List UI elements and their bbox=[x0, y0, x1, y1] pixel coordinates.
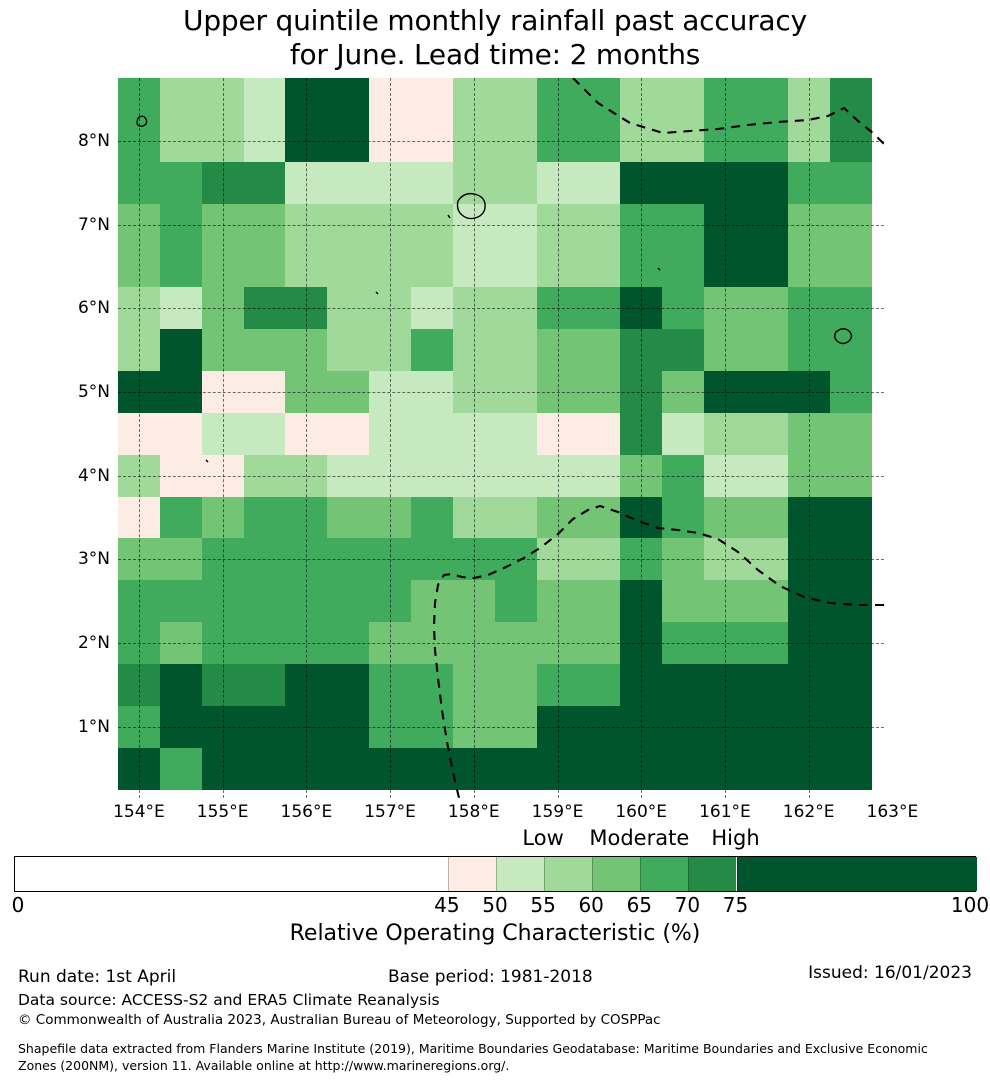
colorbar-tick-label: 75 bbox=[696, 893, 776, 917]
heatmap-cell bbox=[788, 287, 830, 329]
heatmap-cell bbox=[244, 497, 286, 539]
x-axis-tick-label: 161°E bbox=[680, 802, 770, 822]
heatmap-cell bbox=[327, 664, 369, 706]
heatmap-cell bbox=[788, 580, 830, 622]
heatmap-cell bbox=[453, 706, 495, 748]
heatmap-cell bbox=[788, 748, 830, 790]
heatmap-cell bbox=[495, 455, 537, 497]
heatmap-cell bbox=[202, 664, 244, 706]
heatmap-cell bbox=[830, 748, 872, 790]
heatmap-cell bbox=[369, 245, 411, 287]
heatmap-cell bbox=[202, 371, 244, 413]
heatmap-cell bbox=[704, 622, 746, 664]
heatmap-cell bbox=[411, 329, 453, 371]
heatmap-cell bbox=[578, 329, 620, 371]
chart-title-line2: for June. Lead time: 2 months bbox=[0, 38, 990, 72]
heatmap-cell bbox=[746, 329, 788, 371]
rainfall-accuracy-figure: Upper quintile monthly rainfall past acc… bbox=[0, 0, 990, 1080]
heatmap-cell bbox=[244, 706, 286, 748]
heatmap-cell bbox=[830, 538, 872, 580]
colorbar-segment bbox=[737, 857, 978, 891]
heatmap-cell bbox=[369, 162, 411, 204]
heatmap-cell bbox=[662, 748, 704, 790]
heatmap-cell bbox=[369, 748, 411, 790]
heatmap-cell bbox=[244, 162, 286, 204]
heatmap-cell bbox=[537, 204, 579, 246]
heatmap-cell bbox=[327, 580, 369, 622]
heatmap-cell bbox=[537, 162, 579, 204]
heatmap-cell bbox=[578, 497, 620, 539]
heatmap-cell bbox=[369, 706, 411, 748]
heatmap-cell bbox=[160, 204, 202, 246]
heatmap-cell bbox=[453, 748, 495, 790]
heatmap-cell bbox=[704, 538, 746, 580]
heatmap-cell bbox=[830, 329, 872, 371]
chart-title-line1: Upper quintile monthly rainfall past acc… bbox=[0, 4, 990, 38]
heatmap-cell bbox=[704, 664, 746, 706]
heatmap-cell bbox=[662, 329, 704, 371]
y-axis-ticks: 1°N2°N3°N4°N5°N6°N7°N8°N bbox=[40, 78, 110, 798]
heatmap-cell bbox=[369, 538, 411, 580]
heatmap-cell bbox=[202, 287, 244, 329]
heatmap-cell bbox=[746, 497, 788, 539]
heatmap-cell bbox=[202, 580, 244, 622]
colorbar-segment bbox=[544, 857, 592, 891]
heatmap-cell bbox=[788, 497, 830, 539]
heatmap-cell bbox=[746, 538, 788, 580]
heatmap-cell bbox=[453, 78, 495, 120]
heatmap-grid bbox=[118, 78, 884, 798]
heatmap-cell bbox=[453, 664, 495, 706]
heatmap-cell bbox=[160, 706, 202, 748]
heatmap-cell bbox=[327, 162, 369, 204]
heatmap-cell bbox=[244, 371, 286, 413]
heatmap-cell bbox=[327, 538, 369, 580]
heatmap-cell bbox=[537, 580, 579, 622]
x-axis-tick-label: 162°E bbox=[764, 802, 854, 822]
heatmap-cell bbox=[495, 162, 537, 204]
heatmap-cell bbox=[537, 245, 579, 287]
heatmap-cell bbox=[788, 622, 830, 664]
heatmap-cell bbox=[411, 455, 453, 497]
heatmap-cell bbox=[285, 78, 327, 120]
heatmap-cell bbox=[285, 287, 327, 329]
heatmap-cell bbox=[285, 622, 327, 664]
heatmap-cell bbox=[537, 120, 579, 162]
heatmap-cell bbox=[537, 455, 579, 497]
heatmap-cell bbox=[537, 497, 579, 539]
heatmap-cell bbox=[746, 120, 788, 162]
heatmap-cell bbox=[620, 497, 662, 539]
heatmap-cell bbox=[578, 245, 620, 287]
heatmap-cell bbox=[244, 664, 286, 706]
heatmap-cell bbox=[746, 706, 788, 748]
heatmap-cell bbox=[620, 162, 662, 204]
heatmap-cell bbox=[830, 287, 872, 329]
heatmap-cell bbox=[411, 580, 453, 622]
heatmap-cell bbox=[118, 538, 160, 580]
y-axis-tick-label: 4°N bbox=[46, 468, 110, 485]
heatmap-cell bbox=[495, 287, 537, 329]
colorbar bbox=[14, 856, 976, 892]
heatmap-cell bbox=[620, 538, 662, 580]
y-axis-tick-label: 8°N bbox=[46, 133, 110, 150]
heatmap-cell bbox=[202, 78, 244, 120]
heatmap-cell bbox=[788, 120, 830, 162]
heatmap-cell bbox=[788, 664, 830, 706]
heatmap-cell bbox=[118, 748, 160, 790]
heatmap-cell bbox=[244, 78, 286, 120]
heatmap-cell bbox=[578, 664, 620, 706]
heatmap-cell bbox=[788, 538, 830, 580]
heatmap-cell bbox=[118, 580, 160, 622]
heatmap-cell bbox=[202, 204, 244, 246]
heatmap-cell bbox=[746, 413, 788, 455]
heatmap-cell bbox=[578, 78, 620, 120]
heatmap-cell bbox=[495, 664, 537, 706]
heatmap-cell bbox=[285, 497, 327, 539]
heatmap-cell bbox=[704, 706, 746, 748]
heatmap-cell bbox=[327, 120, 369, 162]
heatmap-cell bbox=[411, 538, 453, 580]
heatmap-cell bbox=[830, 245, 872, 287]
map-plot-area bbox=[118, 78, 884, 798]
heatmap-cell bbox=[495, 78, 537, 120]
y-axis-tick-label: 1°N bbox=[46, 719, 110, 736]
heatmap-cell bbox=[411, 204, 453, 246]
heatmap-cell bbox=[788, 245, 830, 287]
heatmap-cell bbox=[662, 78, 704, 120]
heatmap-cell bbox=[620, 413, 662, 455]
footer-meta-row: Run date: 1st April Base period: 1981-20… bbox=[0, 966, 990, 990]
heatmap-cell bbox=[746, 371, 788, 413]
heatmap-cell bbox=[495, 497, 537, 539]
heatmap-cell bbox=[453, 497, 495, 539]
heatmap-cell bbox=[160, 287, 202, 329]
heatmap-cell bbox=[202, 329, 244, 371]
heatmap-cell bbox=[202, 538, 244, 580]
heatmap-cell bbox=[453, 204, 495, 246]
heatmap-cell bbox=[830, 204, 872, 246]
shapefile-attribution-text: Shapefile data extracted from Flanders M… bbox=[18, 1040, 968, 1074]
heatmap-cell bbox=[202, 413, 244, 455]
heatmap-cell bbox=[704, 120, 746, 162]
heatmap-cell bbox=[411, 622, 453, 664]
heatmap-cell bbox=[369, 78, 411, 120]
heatmap-cell bbox=[662, 371, 704, 413]
heatmap-cell bbox=[662, 287, 704, 329]
heatmap-cell bbox=[202, 748, 244, 790]
heatmap-cell bbox=[244, 580, 286, 622]
heatmap-cell bbox=[578, 748, 620, 790]
heatmap-cell bbox=[285, 455, 327, 497]
heatmap-cell bbox=[453, 120, 495, 162]
heatmap-cell bbox=[244, 538, 286, 580]
heatmap-cell bbox=[537, 538, 579, 580]
x-axis-tick-label: 157°E bbox=[345, 802, 435, 822]
heatmap-cell bbox=[788, 204, 830, 246]
heatmap-cell bbox=[495, 748, 537, 790]
heatmap-cell bbox=[118, 497, 160, 539]
heatmap-cell bbox=[578, 622, 620, 664]
heatmap-cell bbox=[662, 580, 704, 622]
colorbar-segment bbox=[15, 857, 448, 891]
heatmap-cell bbox=[369, 664, 411, 706]
heatmap-cell bbox=[620, 706, 662, 748]
heatmap-cell bbox=[202, 245, 244, 287]
heatmap-cell bbox=[746, 580, 788, 622]
heatmap-cell bbox=[537, 748, 579, 790]
heatmap-cell bbox=[662, 538, 704, 580]
heatmap-cell bbox=[620, 455, 662, 497]
heatmap-cell bbox=[369, 371, 411, 413]
figure-footer: Run date: 1st April Base period: 1981-20… bbox=[0, 966, 990, 1080]
y-axis-tick-label: 7°N bbox=[46, 217, 110, 234]
chart-title: Upper quintile monthly rainfall past acc… bbox=[0, 4, 990, 72]
heatmap-cell bbox=[160, 455, 202, 497]
heatmap-cell bbox=[662, 245, 704, 287]
heatmap-cell bbox=[411, 706, 453, 748]
heatmap-cell bbox=[411, 371, 453, 413]
heatmap-cell bbox=[118, 204, 160, 246]
heatmap-cell bbox=[788, 371, 830, 413]
heatmap-cell bbox=[620, 622, 662, 664]
heatmap-cell bbox=[662, 413, 704, 455]
colorbar-category-labels: LowModerateHigh bbox=[0, 826, 990, 852]
colorbar-category-label: High bbox=[636, 826, 836, 850]
heatmap-cell bbox=[160, 497, 202, 539]
heatmap-cell bbox=[704, 162, 746, 204]
heatmap-cell bbox=[244, 748, 286, 790]
heatmap-cell bbox=[411, 287, 453, 329]
heatmap-cell bbox=[495, 371, 537, 413]
heatmap-cell bbox=[118, 455, 160, 497]
heatmap-cell bbox=[244, 413, 286, 455]
heatmap-cell bbox=[830, 78, 872, 120]
heatmap-cell bbox=[285, 162, 327, 204]
heatmap-cell bbox=[537, 329, 579, 371]
heatmap-cell bbox=[160, 413, 202, 455]
heatmap-cell bbox=[578, 162, 620, 204]
heatmap-cell bbox=[746, 664, 788, 706]
heatmap-cell bbox=[160, 78, 202, 120]
heatmap-cell bbox=[118, 371, 160, 413]
heatmap-cell bbox=[369, 204, 411, 246]
heatmap-cell bbox=[244, 245, 286, 287]
heatmap-cell bbox=[537, 706, 579, 748]
heatmap-cell bbox=[788, 78, 830, 120]
heatmap-cell bbox=[620, 664, 662, 706]
heatmap-cell bbox=[160, 580, 202, 622]
heatmap-cell bbox=[244, 329, 286, 371]
heatmap-cell bbox=[495, 413, 537, 455]
heatmap-cell bbox=[830, 580, 872, 622]
x-axis-tick-label: 155°E bbox=[178, 802, 268, 822]
heatmap-cell bbox=[118, 287, 160, 329]
run-date-text: Run date: 1st April bbox=[18, 966, 176, 988]
heatmap-cell bbox=[788, 706, 830, 748]
heatmap-cell bbox=[578, 120, 620, 162]
heatmap-cell bbox=[788, 329, 830, 371]
heatmap-cell bbox=[453, 287, 495, 329]
heatmap-cell bbox=[285, 371, 327, 413]
issued-date-text: Issued: 16/01/2023 bbox=[808, 962, 972, 984]
heatmap-cell bbox=[160, 622, 202, 664]
heatmap-cell bbox=[327, 204, 369, 246]
heatmap-cell bbox=[285, 748, 327, 790]
heatmap-cell bbox=[453, 455, 495, 497]
heatmap-cell bbox=[327, 497, 369, 539]
heatmap-cell bbox=[411, 413, 453, 455]
heatmap-cell bbox=[160, 162, 202, 204]
heatmap-cell bbox=[202, 162, 244, 204]
heatmap-cell bbox=[453, 622, 495, 664]
x-axis-tick-label: 160°E bbox=[596, 802, 686, 822]
heatmap-cell bbox=[495, 204, 537, 246]
heatmap-cell bbox=[369, 120, 411, 162]
heatmap-cell bbox=[285, 329, 327, 371]
heatmap-cell bbox=[118, 78, 160, 120]
x-axis-tick-label: 159°E bbox=[513, 802, 603, 822]
heatmap-cell bbox=[327, 706, 369, 748]
heatmap-cell bbox=[746, 245, 788, 287]
colorbar-segment bbox=[592, 857, 640, 891]
heatmap-cell bbox=[453, 413, 495, 455]
heatmap-cell bbox=[285, 204, 327, 246]
heatmap-cell bbox=[620, 748, 662, 790]
heatmap-cell bbox=[578, 204, 620, 246]
heatmap-cell bbox=[578, 706, 620, 748]
heatmap-cell bbox=[830, 706, 872, 748]
heatmap-cell bbox=[578, 538, 620, 580]
heatmap-cell bbox=[118, 706, 160, 748]
heatmap-cell bbox=[746, 748, 788, 790]
colorbar-segment bbox=[496, 857, 544, 891]
heatmap-cell bbox=[369, 622, 411, 664]
heatmap-cell bbox=[495, 622, 537, 664]
heatmap-cell bbox=[704, 455, 746, 497]
x-axis-tick-label: 156°E bbox=[261, 802, 351, 822]
heatmap-cell bbox=[620, 245, 662, 287]
heatmap-cell bbox=[578, 371, 620, 413]
heatmap-cell bbox=[620, 204, 662, 246]
heatmap-cell bbox=[537, 413, 579, 455]
heatmap-cell bbox=[327, 245, 369, 287]
copyright-text: © Commonwealth of Australia 2023, Austra… bbox=[18, 1011, 661, 1029]
heatmap-cell bbox=[453, 538, 495, 580]
heatmap-cell bbox=[118, 413, 160, 455]
heatmap-cell bbox=[830, 622, 872, 664]
heatmap-cell bbox=[537, 622, 579, 664]
y-axis-tick-label: 5°N bbox=[46, 384, 110, 401]
heatmap-cell bbox=[202, 622, 244, 664]
heatmap-cell bbox=[453, 580, 495, 622]
heatmap-cell bbox=[285, 538, 327, 580]
heatmap-cell bbox=[788, 455, 830, 497]
heatmap-cell bbox=[369, 580, 411, 622]
heatmap-cell bbox=[244, 120, 286, 162]
heatmap-cell bbox=[620, 580, 662, 622]
heatmap-cell bbox=[788, 162, 830, 204]
heatmap-cell bbox=[244, 622, 286, 664]
heatmap-cell bbox=[411, 162, 453, 204]
heatmap-cell bbox=[495, 245, 537, 287]
heatmap-cell bbox=[746, 204, 788, 246]
heatmap-cell bbox=[202, 497, 244, 539]
heatmap-cell bbox=[620, 287, 662, 329]
heatmap-cell bbox=[662, 455, 704, 497]
y-axis-tick-label: 2°N bbox=[46, 635, 110, 652]
heatmap-cell bbox=[411, 245, 453, 287]
heatmap-cell bbox=[495, 580, 537, 622]
heatmap-cell bbox=[160, 245, 202, 287]
heatmap-cell bbox=[369, 455, 411, 497]
heatmap-cell bbox=[746, 455, 788, 497]
heatmap-cell bbox=[453, 245, 495, 287]
heatmap-cell bbox=[453, 162, 495, 204]
heatmap-cell bbox=[830, 371, 872, 413]
heatmap-cell bbox=[118, 329, 160, 371]
heatmap-cell bbox=[620, 371, 662, 413]
heatmap-cell bbox=[160, 120, 202, 162]
heatmap-cell bbox=[578, 455, 620, 497]
heatmap-cell bbox=[369, 329, 411, 371]
heatmap-cell bbox=[704, 287, 746, 329]
heatmap-cell bbox=[453, 371, 495, 413]
heatmap-cell bbox=[411, 748, 453, 790]
heatmap-cell bbox=[746, 287, 788, 329]
heatmap-cell bbox=[704, 580, 746, 622]
heatmap-cell bbox=[327, 78, 369, 120]
heatmap-cell bbox=[327, 455, 369, 497]
heatmap-cell bbox=[495, 706, 537, 748]
heatmap-cell bbox=[662, 622, 704, 664]
heatmap-cell bbox=[704, 371, 746, 413]
heatmap-cell bbox=[495, 329, 537, 371]
heatmap-cell bbox=[118, 162, 160, 204]
heatmap-cell bbox=[620, 329, 662, 371]
heatmap-cell bbox=[118, 664, 160, 706]
heatmap-cell bbox=[285, 413, 327, 455]
heatmap-cell bbox=[704, 329, 746, 371]
heatmap-cell bbox=[704, 78, 746, 120]
heatmap-cell bbox=[704, 413, 746, 455]
y-axis-tick-label: 3°N bbox=[46, 551, 110, 568]
heatmap-cell bbox=[662, 120, 704, 162]
heatmap-cell bbox=[830, 413, 872, 455]
heatmap-cell bbox=[160, 329, 202, 371]
heatmap-cell bbox=[662, 497, 704, 539]
heatmap-cell bbox=[830, 120, 872, 162]
heatmap-cell bbox=[788, 413, 830, 455]
colorbar-tick-label: 0 bbox=[0, 893, 58, 917]
heatmap-cell bbox=[704, 497, 746, 539]
heatmap-cell bbox=[411, 120, 453, 162]
heatmap-cell bbox=[160, 748, 202, 790]
heatmap-cell bbox=[537, 371, 579, 413]
colorbar-axis-label: Relative Operating Characteristic (%) bbox=[0, 920, 990, 948]
heatmap-cell bbox=[746, 622, 788, 664]
y-axis-tick-label: 6°N bbox=[46, 300, 110, 317]
colorbar-tick-labels: 045505560657075100 bbox=[0, 893, 990, 919]
heatmap-cell bbox=[285, 120, 327, 162]
colorbar-segment bbox=[688, 857, 736, 891]
heatmap-cell bbox=[285, 706, 327, 748]
heatmap-cell bbox=[285, 245, 327, 287]
heatmap-cell bbox=[327, 413, 369, 455]
heatmap-cell bbox=[578, 580, 620, 622]
heatmap-cell bbox=[285, 664, 327, 706]
